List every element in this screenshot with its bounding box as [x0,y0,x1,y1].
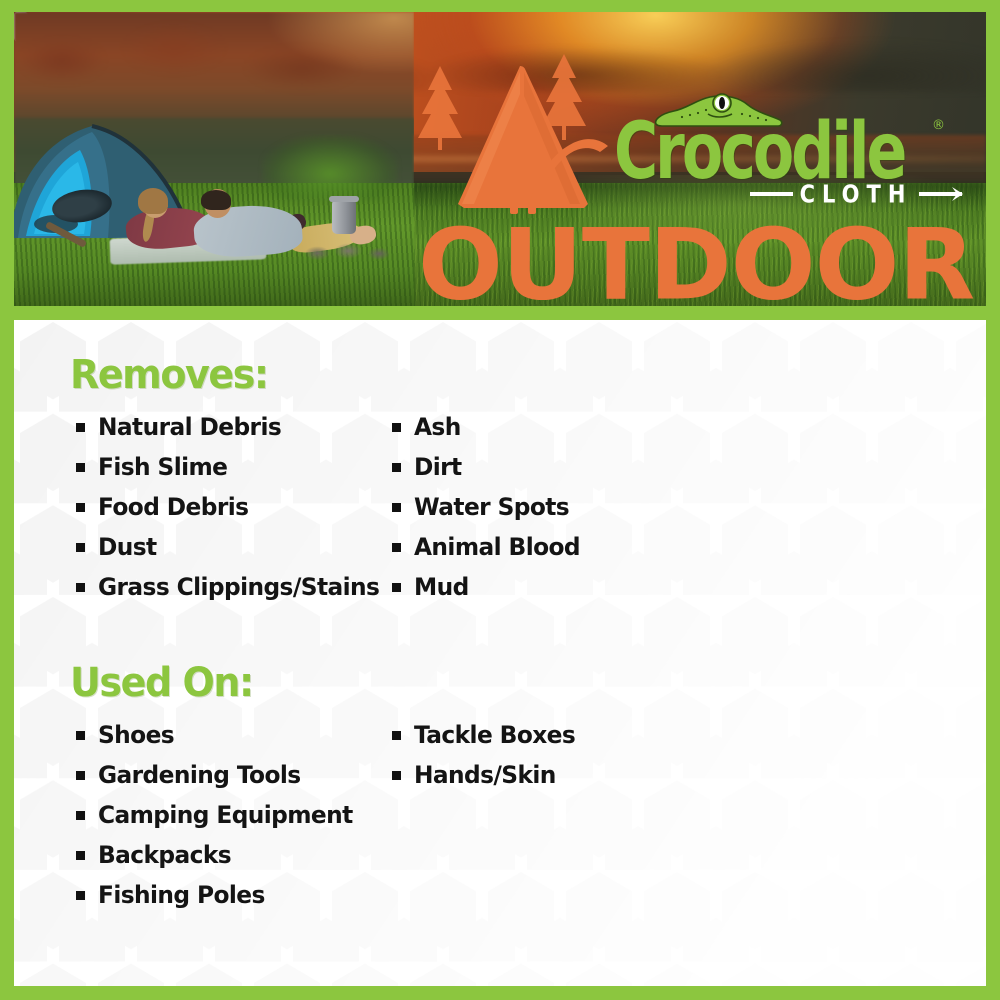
bullet-square-icon [76,583,85,592]
brand-logo: Crocodile ® CLOTH [614,90,964,220]
removes-column-left: Natural Debris Fish Slime Food Debris [14,412,354,612]
list-item: Shoes [76,720,354,760]
rule-left [750,192,793,196]
brand-subtitle: CLOTH [800,180,913,208]
bullet-square-icon [76,423,85,432]
list-item: Fishing Poles [76,880,354,920]
list-item-label: Gardening Tools [98,760,301,790]
list-item: Backpacks [76,840,354,880]
brand-name: Crocodile [614,112,904,190]
bullet-square-icon [76,771,85,780]
bullet-square-icon [76,543,85,552]
man-hair [201,190,231,210]
list-item-label: Natural Debris [98,412,281,442]
registered-trademark-mark: ® [932,118,945,133]
list-item: Dirt [392,452,754,492]
section-used-on: Used On: Shoes Gardening Tools [14,660,986,920]
list-item-label: Animal Blood [414,532,580,562]
bullet-square-icon [76,811,85,820]
list-item-label: Camping Equipment [98,800,353,830]
fire-ring-stones [304,240,400,262]
list-item: Fish Slime [76,452,354,492]
list-item-label: Dirt [414,452,462,482]
removes-columns: Natural Debris Fish Slime Food Debris [14,412,986,612]
list-item-label: Food Debris [98,492,248,522]
list-item: Grass Clippings/Stains [76,572,354,612]
list-item-label: Dust [98,532,157,562]
bullet-square-icon [392,503,401,512]
list-item: Dust [76,532,354,572]
camping-photo [14,12,414,306]
section-title-used-on: Used On: [70,660,940,706]
section-title-removes: Removes: [70,352,940,398]
list-item-label: Backpacks [98,840,231,870]
list-item: Ash [392,412,754,452]
header-banner: Crocodile ® CLOTH OUTDOOR [14,12,986,320]
bullet-square-icon [392,731,401,740]
banner-bottom-strip [14,306,986,320]
list-item-label: Hands/Skin [414,760,556,790]
bullet-square-icon [392,543,401,552]
list-item: Animal Blood [392,532,754,572]
list-item: Gardening Tools [76,760,354,800]
list-item-label: Water Spots [414,492,569,522]
section-removes: Removes: Natural Debris Fish Slime [14,352,986,612]
list-item-label: Tackle Boxes [414,720,575,750]
list-item: Water Spots [392,492,754,532]
product-card: Crocodile ® CLOTH OUTDOOR [14,12,986,986]
list-item: Natural Debris [76,412,354,452]
bullet-square-icon [76,851,85,860]
list-item: Mud [392,572,754,612]
list-item-label: Mud [414,572,469,602]
bullet-square-icon [76,731,85,740]
bullet-square-icon [76,463,85,472]
infographic-page: Crocodile ® CLOTH OUTDOOR [0,0,1000,1000]
list-item: Hands/Skin [392,760,754,800]
list-item-label: Fish Slime [98,452,227,482]
bullet-square-icon [392,583,401,592]
rule-right-arrow [919,192,962,196]
list-item-label: Fishing Poles [98,880,265,910]
photo-bush [262,135,398,200]
list-item: Camping Equipment [76,800,354,840]
bullet-square-icon [76,503,85,512]
product-line-headline: OUTDOOR [418,216,974,314]
bullet-square-icon [76,891,85,900]
brand-subtitle-row: CLOTH [750,182,962,206]
woman-hair [138,188,168,214]
removes-column-right: Ash Dirt Water Spots Animal Blood [354,412,754,612]
used-on-column-right: Tackle Boxes Hands/Skin [354,720,754,920]
bullet-square-icon [392,463,401,472]
camp-kettle [332,200,356,234]
list-item-label: Ash [414,412,461,442]
bullet-square-icon [392,423,401,432]
used-on-columns: Shoes Gardening Tools Camping Equipment [14,720,986,920]
list-item: Tackle Boxes [392,720,754,760]
list-item-label: Grass Clippings/Stains [98,572,379,602]
used-on-column-left: Shoes Gardening Tools Camping Equipment [14,720,354,920]
content-body: Removes: Natural Debris Fish Slime [14,320,986,986]
bullet-square-icon [392,771,401,780]
list-item: Food Debris [76,492,354,532]
list-item-label: Shoes [98,720,174,750]
